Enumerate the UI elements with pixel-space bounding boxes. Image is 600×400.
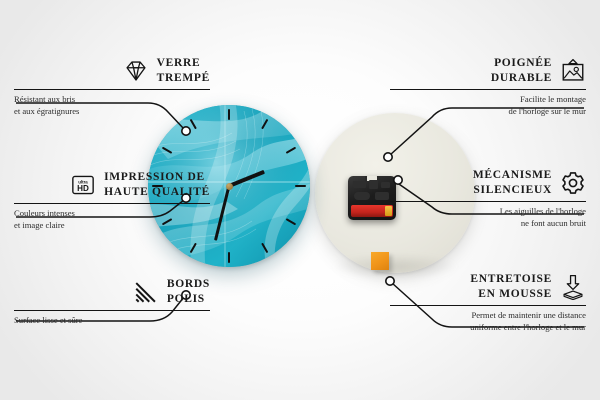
- picture-hanger-icon: [560, 58, 586, 84]
- feature-title-line2: DURABLE: [491, 72, 552, 84]
- gear-icon: [560, 170, 586, 196]
- feature-callout-impression[interactable]: ultra HD IMPRESSION DE HAUTE QUALITÉ Cou…: [14, 170, 210, 231]
- feature-title-line1: ENTRETOISE: [470, 273, 552, 285]
- battery: [351, 205, 393, 217]
- polished-edge-icon: [133, 279, 159, 305]
- feature-title-line2: TREMPÉ: [157, 72, 210, 84]
- feature-desc-line2: ne font aucun bruit: [521, 218, 586, 228]
- infographic-stage: VERRE TREMPÉ Résistant aux bris et aux é…: [0, 0, 600, 400]
- feature-desc-line2: et aux égratignures: [14, 106, 79, 116]
- divider: [14, 89, 210, 90]
- feature-title-line1: IMPRESSION DE: [104, 171, 205, 183]
- feature-title-line1: POIGNÉE: [494, 57, 552, 69]
- feature-desc-line1: Facilite le montage: [520, 94, 586, 104]
- feature-desc-line1: Couleurs intenses: [14, 208, 75, 218]
- feature-title-line2: POLIS: [167, 293, 205, 305]
- diamond-icon: [123, 58, 149, 84]
- feature-title-line2: EN MOUSSE: [478, 288, 552, 300]
- divider: [390, 305, 586, 306]
- ultra-hd-icon: ultra HD: [70, 172, 96, 198]
- feature-desc-line1: Surface lisse et sûre: [14, 315, 83, 325]
- feature-desc-line2: uniforme entre l'horloge et le mur: [470, 322, 586, 332]
- clock-mechanism: [348, 176, 396, 220]
- feature-desc-line1: Résistant aux bris: [14, 94, 75, 104]
- feature-callout-poignee[interactable]: POIGNÉE DURABLE Facilite le montage de l…: [390, 56, 586, 117]
- feature-title-line1: BORDS: [167, 278, 210, 290]
- feature-callout-bords-polis[interactable]: BORDS POLIS Surface lisse et sûre: [14, 277, 210, 327]
- feature-desc-line1: Les aiguilles de l'horloge: [500, 206, 586, 216]
- feature-title-line1: MÉCANISME: [473, 169, 552, 181]
- feature-title-line1: VERRE: [157, 57, 201, 69]
- svg-text:HD: HD: [77, 184, 89, 193]
- feature-desc-line2: et image claire: [14, 220, 65, 230]
- foam-spacer-icon: [560, 274, 586, 300]
- divider: [390, 89, 586, 90]
- divider: [14, 310, 210, 311]
- divider: [14, 203, 210, 204]
- feature-title-line2: HAUTE QUALITÉ: [104, 186, 210, 198]
- feature-callout-entretoise[interactable]: ENTRETOISE EN MOUSSE Permet de maintenir…: [390, 272, 586, 333]
- feature-desc-line2: de l'horloge sur le mur: [509, 106, 586, 116]
- foam-spacer: [371, 252, 389, 270]
- clock-center-cap: [226, 183, 233, 190]
- feature-callout-mecanisme[interactable]: MÉCANISME SILENCIEUX Les aiguilles de l'…: [390, 168, 586, 229]
- feature-callout-verre-trempe[interactable]: VERRE TREMPÉ Résistant aux bris et aux é…: [14, 56, 210, 117]
- feature-desc-line1: Permet de maintenir une distance: [471, 310, 586, 320]
- feature-title-line2: SILENCIEUX: [473, 184, 552, 196]
- divider: [390, 201, 586, 202]
